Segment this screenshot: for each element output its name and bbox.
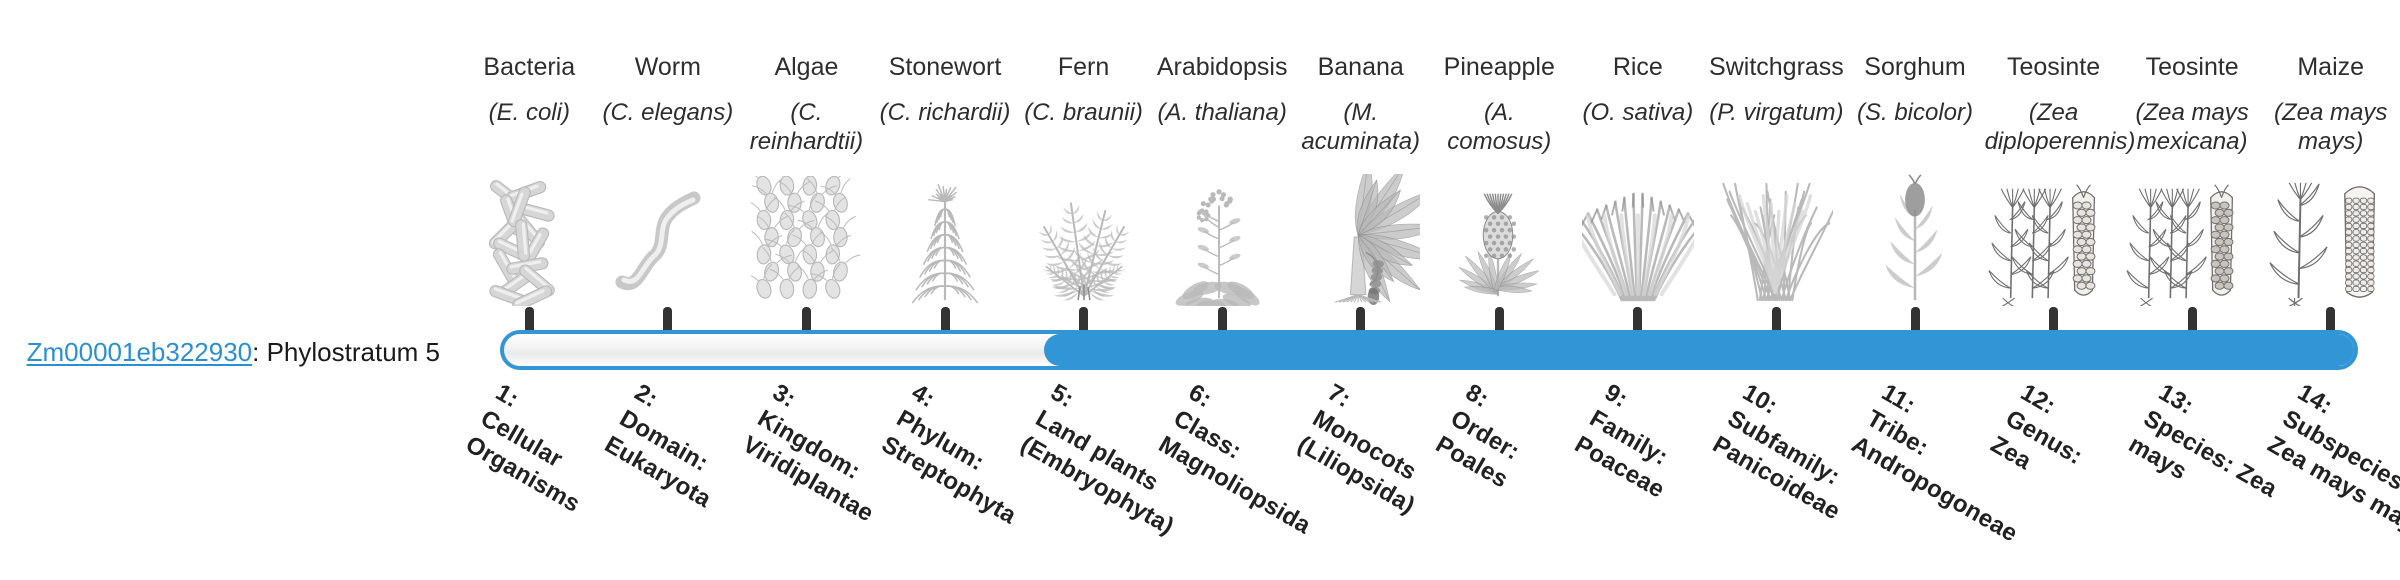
banana-plant-art — [1292, 174, 1430, 306]
switchgrass-art — [1707, 174, 1845, 306]
species-scientific-name: (Zea mays mexicana) — [2123, 98, 2261, 158]
species-common-name: Sorghum — [1846, 52, 1984, 84]
sorghum-art — [1846, 174, 1984, 306]
progress-fill — [1044, 334, 2354, 366]
teosinte-mexicana-art — [2123, 174, 2261, 306]
species-common-name: Worm — [599, 52, 737, 84]
species-common-name: Banana — [1292, 52, 1430, 84]
phylostratum-value: Phylostratum 5 — [267, 337, 440, 367]
species-scientific-name: (O. sativa) — [1569, 98, 1707, 158]
species-column: Maize(Zea mays mays) — [2262, 52, 2400, 307]
species-scientific-name: (M. acuminata) — [1292, 98, 1430, 158]
species-column: Switchgrass(P. virgatum) — [1707, 52, 1845, 307]
species-header-row: Bacteria(E. coli) — [460, 52, 2400, 307]
species-common-name: Teosinte — [1985, 52, 2123, 84]
species-column: Bacteria(E. coli) — [460, 52, 598, 307]
species-scientific-name: (C. richardii) — [876, 98, 1014, 158]
species-column: Sorghum(S. bicolor) — [1846, 52, 1984, 307]
species-scientific-name: (C. reinhardtii) — [737, 98, 875, 158]
species-column: Rice(O. sativa) — [1569, 52, 1707, 307]
gene-phylostratum-label: Zm00001eb322930: Phylostratum 5 — [0, 337, 440, 367]
taxonomic-rank-label: 2:Domain:Eukaryota — [599, 378, 746, 515]
species-common-name: Switchgrass — [1707, 52, 1845, 84]
species-common-name: Teosinte — [2123, 52, 2261, 84]
species-common-name: Maize — [2262, 52, 2400, 84]
stonewort-art — [876, 174, 1014, 306]
species-common-name: Pineapple — [1430, 52, 1568, 84]
species-common-name: Bacteria — [460, 52, 598, 84]
taxonomic-rank-label: 8:Order:Poales — [1430, 378, 1543, 495]
species-scientific-name: (C. elegans) — [599, 98, 737, 158]
species-column: Banana(M. acuminata) — [1292, 52, 1430, 307]
pineapple-art — [1430, 174, 1568, 306]
species-common-name: Algae — [737, 52, 875, 84]
species-column: Stonewort(C. richardii) — [876, 52, 1014, 307]
species-column: Algae(C. reinhardtii) — [737, 52, 875, 307]
species-column: Worm(C. elegans) — [599, 52, 737, 307]
bacteria-rods-art — [460, 174, 598, 306]
arabidopsis-art — [1153, 174, 1291, 306]
taxonomic-rank-label: 14:Subspecies:Zea mays mays — [2262, 378, 2400, 546]
species-scientific-name: (C. braunii) — [1015, 98, 1153, 158]
species-scientific-name: (P. virgatum) — [1707, 98, 1845, 158]
species-scientific-name: (A. thaliana) — [1153, 98, 1291, 158]
species-scientific-name: (Zea mays mays) — [2262, 98, 2400, 158]
taxonomic-rank-label: 1:CellularOrganisms — [460, 378, 615, 520]
fern-art — [1015, 174, 1153, 306]
gene-label-separator: : — [252, 337, 266, 367]
species-scientific-name: (A. comosus) — [1430, 98, 1568, 158]
species-column: Arabidopsis(A. thaliana) — [1153, 52, 1291, 307]
species-scientific-name: (E. coli) — [460, 98, 598, 158]
taxonomic-rank-label-layer: 1:CellularOrganisms2:Domain:Eukaryota3:K… — [460, 370, 2400, 580]
gene-id-link[interactable]: Zm00001eb322930 — [27, 337, 253, 367]
species-scientific-name: (Zea diploperennis) — [1985, 98, 2123, 158]
species-column: Pineapple(A. comosus) — [1430, 52, 1568, 307]
nematode-art — [599, 174, 737, 306]
species-common-name: Fern — [1015, 52, 1153, 84]
maize-art — [2262, 174, 2400, 306]
species-scientific-name: (S. bicolor) — [1846, 98, 1984, 158]
species-common-name: Stonewort — [876, 52, 1014, 84]
rice-plant-art — [1569, 174, 1707, 306]
phylostratum-progress-bar[interactable] — [500, 330, 2358, 370]
species-common-name: Rice — [1569, 52, 1707, 84]
species-column: Fern(C. braunii) — [1015, 52, 1153, 307]
species-common-name: Arabidopsis — [1153, 52, 1291, 84]
progress-track — [500, 330, 2358, 370]
taxonomic-rank-label: 9:Family:Poaceae — [1569, 378, 1700, 505]
teosinte-diploperennis-art — [1985, 174, 2123, 306]
species-column: Teosinte(Zea diploperennis) — [1985, 52, 2123, 307]
species-column: Teosinte(Zea mays mexicana) — [2123, 52, 2261, 307]
chlamydomonas-cells-art — [737, 174, 875, 306]
